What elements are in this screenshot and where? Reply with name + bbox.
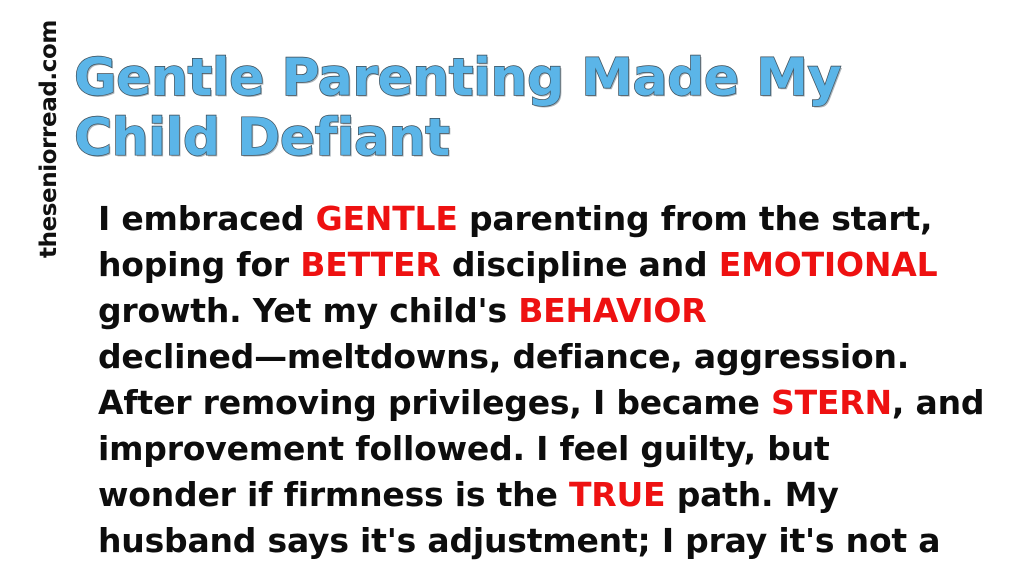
body-text-run: parenting from the start, <box>458 199 933 238</box>
body-text-run: improvement followed. I feel guilty, but <box>98 429 830 468</box>
body-text-run: After removing privileges, I became <box>98 383 771 422</box>
poster-canvas: Gentle Parenting Made My Child Defiant t… <box>0 0 1024 576</box>
body-line: wonder if firmness is the TRUE path. My <box>98 472 978 518</box>
highlighted-word: TRUE <box>569 475 665 514</box>
body-text-run: hoping for <box>98 245 300 284</box>
highlighted-word: STERN <box>771 383 892 422</box>
body-line: hoping for BETTER discipline and EMOTION… <box>98 242 978 288</box>
body-text-run: husband says it's adjustment; I pray it'… <box>98 521 940 560</box>
article-body-text: I embraced GENTLE parenting from the sta… <box>98 196 978 564</box>
body-text-run: path. My <box>665 475 838 514</box>
site-watermark: theseniorread.com <box>36 0 62 258</box>
body-text-run: wonder if firmness is the <box>98 475 569 514</box>
highlighted-word: EMOTIONAL <box>719 245 938 284</box>
body-text-run: growth. Yet my child's <box>98 291 518 330</box>
body-line: After removing privileges, I became STER… <box>98 380 978 426</box>
highlighted-word: BETTER <box>300 245 440 284</box>
body-line: husband says it's adjustment; I pray it'… <box>98 518 978 564</box>
body-text-run: declined—meltdowns, defiance, aggression… <box>98 337 909 376</box>
body-line: growth. Yet my child's BEHAVIOR <box>98 288 978 334</box>
page-title: Gentle Parenting Made My Child Defiant <box>74 48 974 168</box>
body-line: declined—meltdowns, defiance, aggression… <box>98 334 978 380</box>
highlighted-word: GENTLE <box>316 199 458 238</box>
body-line: I embraced GENTLE parenting from the sta… <box>98 196 978 242</box>
highlighted-word: BEHAVIOR <box>518 291 706 330</box>
body-text-run: discipline and <box>441 245 719 284</box>
body-line: improvement followed. I feel guilty, but <box>98 426 978 472</box>
body-text-run: , and <box>892 383 984 422</box>
body-text-run: I embraced <box>98 199 316 238</box>
